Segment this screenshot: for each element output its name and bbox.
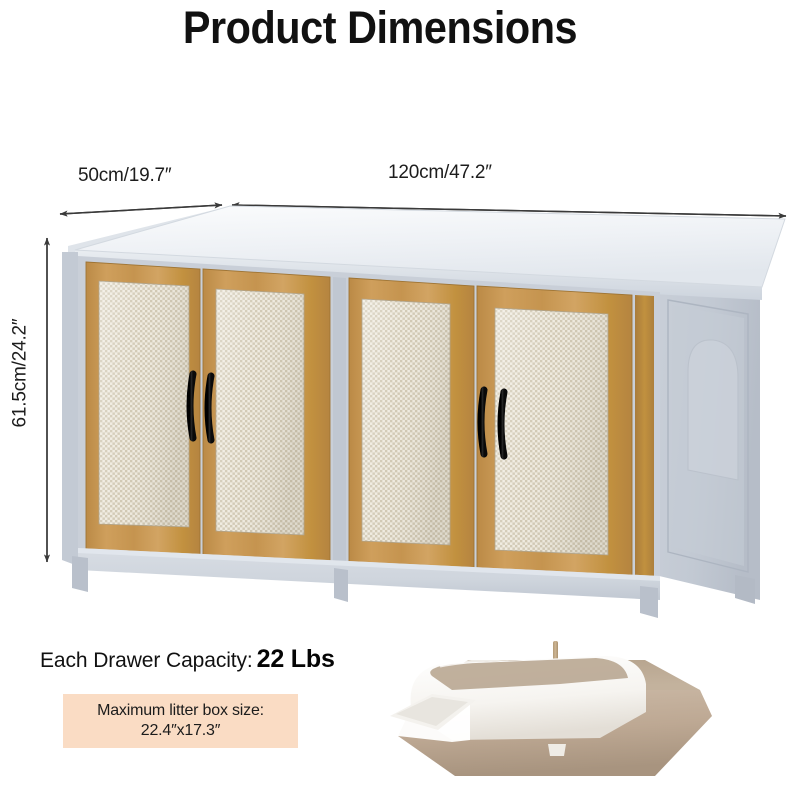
cabinet-door-1[interactable] xyxy=(86,262,200,558)
drawer-capacity-label: Each Drawer Capacity: xyxy=(40,649,253,672)
litter-box-illustration xyxy=(390,641,712,776)
cat-entrance-arch-icon xyxy=(688,340,738,480)
cabinet-left-side-edge xyxy=(62,252,78,566)
cabinet-right-stile xyxy=(635,295,654,585)
drawer-capacity-value: 22 Lbs xyxy=(257,645,335,673)
max-litter-box-size-note: Maximum litter box size: 22.4″x17.3″ xyxy=(63,694,298,748)
drawer-capacity-line: Each Drawer Capacity:22 Lbs xyxy=(40,645,335,674)
cabinet-door-3[interactable] xyxy=(349,278,474,576)
cabinet xyxy=(62,206,785,618)
cabinet-door-2[interactable] xyxy=(203,269,330,566)
max-litter-box-size-line2: 22.4″x17.3″ xyxy=(141,722,220,740)
cabinet-right-side-panel xyxy=(655,268,760,604)
product-illustration xyxy=(0,0,800,800)
depth-arrow xyxy=(60,205,222,214)
max-litter-box-size-line1: Maximum litter box size: xyxy=(97,702,264,720)
cabinet-center-divider xyxy=(333,277,346,574)
